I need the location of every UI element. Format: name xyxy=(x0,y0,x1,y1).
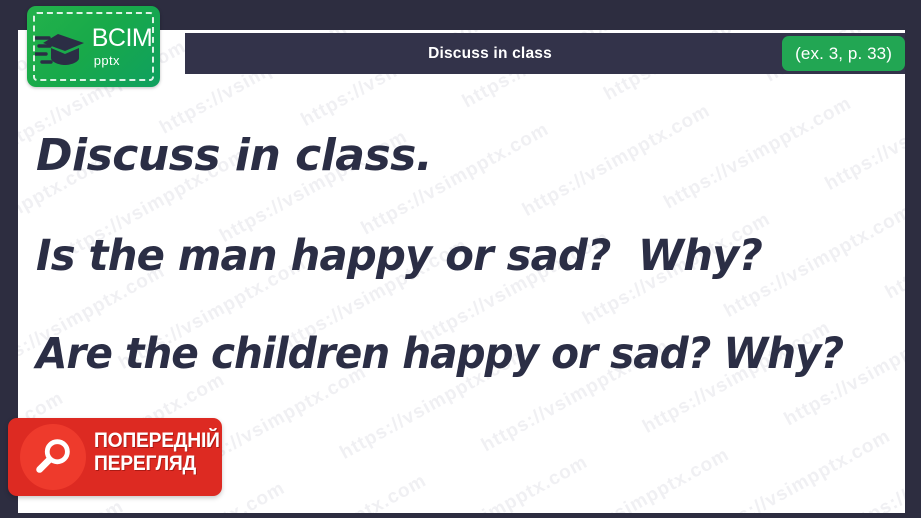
logo-title: BCIM xyxy=(92,26,153,51)
preview-watermark-badge: ПОПЕРЕДНІЙ ПЕРЕГЛЯД xyxy=(8,418,222,496)
logo-subtitle: pptx xyxy=(94,54,153,67)
slide-line-question-1: Is the man happy or sad? Why? xyxy=(36,231,875,281)
slide-header-title: Discuss in class xyxy=(428,45,552,63)
slide-body: Discuss in class. Is the man happy or sa… xyxy=(22,130,901,379)
magnifier-icon xyxy=(20,424,86,490)
preview-badge-line-1: ПОПЕРЕДНІЙ xyxy=(94,430,220,453)
watermark-text: https://vsimpptx.com xyxy=(699,426,894,513)
graduation-cap-icon xyxy=(35,24,87,70)
watermark-text: https://vsimpptx.com xyxy=(397,452,592,513)
exercise-reference-badge: (ex. 3, p. 33) xyxy=(782,36,905,71)
slide-line-title: Discuss in class. xyxy=(36,130,901,181)
preview-badge-line-2: ПЕРЕГЛЯД xyxy=(94,453,220,476)
watermark-text: https://vsimpptx.com xyxy=(18,496,127,513)
slide-line-question-2: Are the children happy or sad? Why? xyxy=(36,329,853,379)
slide-header-bar: Discuss in class (ex. 3, p. 33) xyxy=(185,33,905,74)
bcim-pptx-logo[interactable]: BCIM pptx xyxy=(27,6,160,87)
bottom-strip xyxy=(0,513,921,518)
slide-viewer: https://vsimpptx.com https://vsimpptx.co… xyxy=(0,0,921,518)
watermark-text: https://vsimpptx.com xyxy=(538,444,733,513)
watermark-text: https://vsimpptx.com xyxy=(841,418,905,513)
watermark-text: https://vsimpptx.com xyxy=(235,470,430,513)
